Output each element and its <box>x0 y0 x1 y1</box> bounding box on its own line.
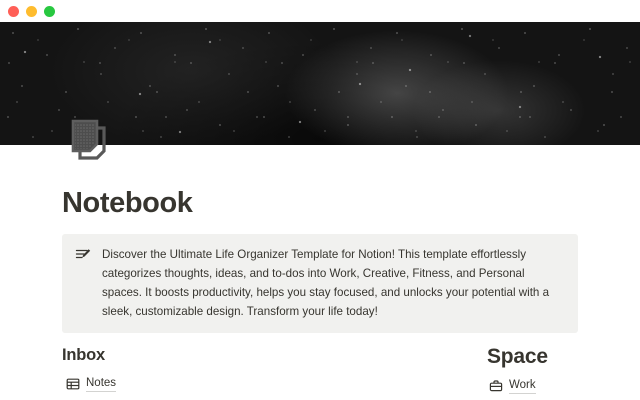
page-link-label: Work <box>509 378 536 394</box>
callout-text: Discover the Ultimate Life Organizer Tem… <box>102 245 564 321</box>
page-link-notes[interactable]: Notes <box>66 376 116 392</box>
edit-list-icon <box>74 246 92 264</box>
page-content: Notebook Discover the Ultimate Life Orga… <box>0 145 640 400</box>
briefcase-icon <box>489 379 503 393</box>
page-link-label: Notes <box>86 376 116 392</box>
callout-block[interactable]: Discover the Ultimate Life Organizer Tem… <box>62 234 578 333</box>
notebook-page-icon[interactable] <box>68 118 114 160</box>
maximize-button[interactable] <box>44 6 55 17</box>
inbox-heading: Inbox <box>62 347 105 364</box>
window-titlebar <box>0 0 640 22</box>
app-window: Notebook Discover the Ultimate Life Orga… <box>0 0 640 400</box>
table-database-icon <box>66 377 80 391</box>
space-heading: Space <box>487 346 548 367</box>
page-link-work[interactable]: Work <box>489 378 536 394</box>
minimize-button[interactable] <box>26 6 37 17</box>
page-title: Notebook <box>62 189 193 218</box>
close-button[interactable] <box>8 6 19 17</box>
